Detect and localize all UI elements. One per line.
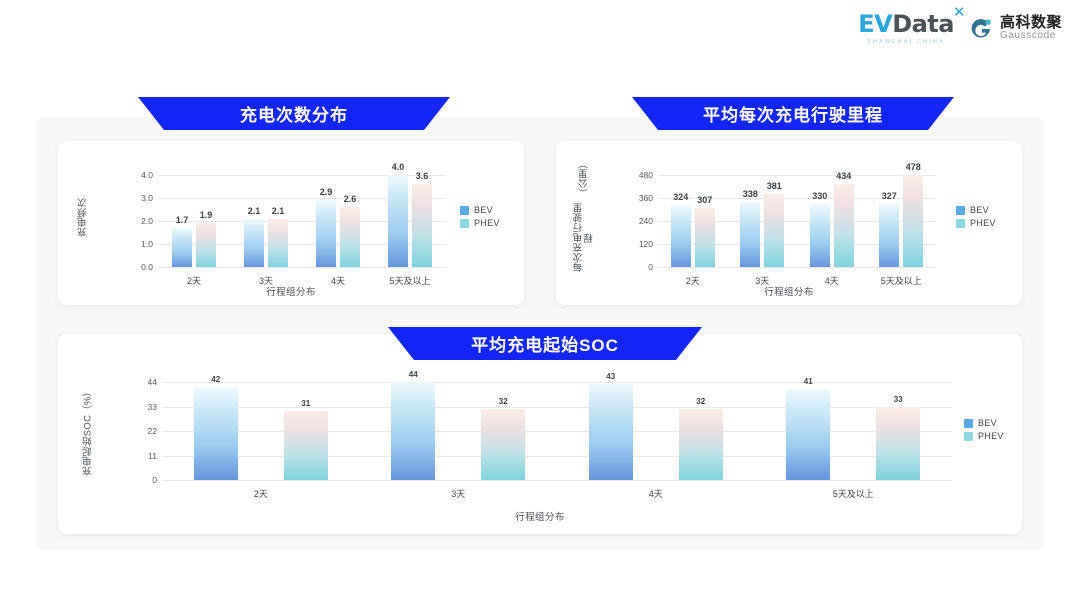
- bar-value-label: 2.6: [344, 194, 357, 204]
- legend-label-bev: BEV: [970, 205, 989, 215]
- chart-title-banner-3: 平均充电起始SOC: [388, 327, 702, 360]
- legend-item-phev[interactable]: PHEV: [460, 218, 500, 228]
- y-axis-tick: 44: [148, 377, 157, 387]
- gausscode-g-icon: [968, 16, 994, 42]
- y-axis-label-line1: 充电起始SOC: [84, 415, 95, 476]
- bar-value-label: 4.0: [392, 162, 405, 172]
- chart-legend: BEVPHEV: [956, 205, 996, 228]
- y-axis-label-line2: （公里）: [580, 159, 591, 198]
- evdata-data-text: Data: [892, 10, 954, 38]
- x-axis-label: 行程组分布: [58, 284, 524, 298]
- gausscode-en-name: Gausscode: [1000, 31, 1062, 42]
- bar-bev: 42: [194, 387, 238, 480]
- legend-swatch-bev: [460, 206, 469, 215]
- bar-phev: 32: [481, 409, 525, 480]
- gridline: [162, 431, 952, 432]
- y-axis-label-line1: 每次充电行驶里程: [574, 198, 595, 277]
- bar-value-label: 327: [882, 191, 897, 201]
- bar-value-label: 43: [606, 372, 615, 381]
- x-axis-tick: 2天: [254, 487, 268, 500]
- y-axis-tick: 480: [639, 170, 653, 180]
- bar-phev: 381: [764, 194, 784, 267]
- bar-value-label: 478: [906, 162, 921, 172]
- legend-item-bev[interactable]: BEV: [956, 205, 996, 215]
- legend-label-phev: PHEV: [474, 218, 500, 228]
- page-header: EVData ✕ SHANGHAI CHINA 高科数聚 Gausscode: [0, 0, 1080, 62]
- bar-value-label: 338: [743, 189, 758, 199]
- legend-label-phev: PHEV: [970, 218, 996, 228]
- y-axis-label: 每次充电行驶里程（公里）: [570, 159, 600, 277]
- gridline: [158, 267, 446, 268]
- x-axis-label: 行程组分布: [58, 509, 1022, 523]
- bar-bev: 324: [671, 205, 691, 267]
- bar-phev: 3.6: [412, 184, 432, 267]
- bar-bev: 2.9: [316, 200, 336, 267]
- bar-value-label: 42: [211, 375, 220, 384]
- bar-phev: 478: [903, 175, 923, 267]
- legend-label-bev: BEV: [978, 418, 997, 428]
- gridline: [162, 382, 952, 383]
- y-axis-label: 充电起始SOC（%）: [74, 370, 104, 492]
- legend-label-bev: BEV: [474, 205, 493, 215]
- bar-value-label: 2.9: [320, 187, 333, 197]
- bar-value-label: 44: [409, 370, 418, 379]
- bar-value-label: 2.1: [248, 206, 261, 216]
- y-axis-tick: 120: [639, 239, 653, 249]
- x-axis-tick: 4天: [331, 274, 345, 287]
- bar-value-label: 2.1: [272, 206, 285, 216]
- bar-bev: 4.0: [388, 175, 408, 267]
- x-axis-tick: 4天: [649, 487, 663, 500]
- legend-swatch-phev: [956, 219, 965, 228]
- y-axis-tick: 4.0: [141, 170, 153, 180]
- bar-phev: 1.9: [196, 223, 216, 267]
- y-axis-tick: 11: [148, 451, 157, 461]
- legend-item-phev[interactable]: PHEV: [956, 218, 996, 228]
- gausscode-text: 高科数聚 Gausscode: [1000, 15, 1062, 41]
- x-axis-tick: 3天: [259, 274, 273, 287]
- gridline: [658, 175, 936, 176]
- bar-phev: 32: [679, 409, 723, 480]
- bar-value-label: 33: [894, 395, 903, 404]
- legend-label-phev: PHEV: [978, 431, 1004, 441]
- legend-item-bev[interactable]: BEV: [964, 418, 1004, 428]
- y-axis-tick: 2.0: [141, 216, 153, 226]
- y-axis-tick: 0.0: [141, 262, 153, 272]
- bar-bev: 330: [810, 204, 830, 267]
- evdata-subtitle: SHANGHAI CHINA: [867, 39, 945, 45]
- chart-card-mileage-per-charge: 每次充电行驶里程（公里）行程组分布01202403604803243072天33…: [556, 141, 1022, 305]
- x-axis-tick: 3天: [451, 487, 465, 500]
- bar-value-label: 41: [804, 377, 813, 386]
- x-axis-tick: 4天: [825, 274, 839, 287]
- gridline: [162, 480, 952, 481]
- y-axis-tick: 22: [148, 426, 157, 436]
- gridline: [658, 267, 936, 268]
- x-axis-tick: 5天及以上: [881, 274, 922, 287]
- bar-bev: 44: [391, 382, 435, 480]
- bar-value-label: 32: [499, 397, 508, 406]
- plot-area: 0.01.02.03.04.01.71.92天2.12.13天2.92.64天4…: [158, 167, 446, 267]
- bar-phev: 434: [834, 184, 854, 267]
- gridline: [162, 407, 952, 408]
- bar-value-label: 3.6: [416, 171, 429, 181]
- bar-bev: 338: [740, 202, 760, 267]
- chart-legend: BEVPHEV: [460, 205, 500, 228]
- y-axis-tick: 240: [639, 216, 653, 226]
- legend-item-bev[interactable]: BEV: [460, 205, 500, 215]
- chart-legend: BEVPHEV: [964, 418, 1004, 441]
- gridline: [162, 456, 952, 457]
- chart-title-banner-1: 充电次数分布: [138, 97, 450, 130]
- x-axis-tick: 2天: [686, 274, 700, 287]
- bar-value-label: 324: [673, 192, 688, 202]
- y-axis-label-line2: （%）: [84, 386, 95, 415]
- evdata-wordmark: EVData ✕: [858, 12, 954, 36]
- chart-card-charging-frequency: 充电频次行程组分布0.01.02.03.04.01.71.92天2.12.13天…: [58, 141, 524, 305]
- logo-group: EVData ✕ SHANGHAI CHINA 高科数聚 Gausscode: [858, 12, 1062, 45]
- bar-phev: 2.1: [268, 219, 288, 267]
- bar-value-label: 330: [812, 191, 827, 201]
- x-axis-tick: 3天: [755, 274, 769, 287]
- legend-swatch-phev: [460, 219, 469, 228]
- y-axis-tick: 0: [648, 262, 653, 272]
- bar-bev: 43: [589, 384, 633, 480]
- y-axis-tick: 33: [148, 402, 157, 412]
- y-axis-tick: 1.0: [141, 239, 153, 249]
- bar-bev: 327: [879, 204, 899, 267]
- x-axis-tick: 5天及以上: [389, 274, 430, 287]
- chart-title-banner-2: 平均每次充电行驶里程: [632, 97, 954, 130]
- legend-swatch-bev: [956, 206, 965, 215]
- bar-value-label: 1.7: [176, 215, 189, 225]
- x-axis-tick: 5天及以上: [833, 487, 874, 500]
- bar-value-label: 32: [696, 397, 705, 406]
- bar-phev: 31: [284, 411, 328, 480]
- gausscode-logo: 高科数聚 Gausscode: [968, 15, 1062, 41]
- y-axis-tick: 0: [152, 475, 157, 485]
- y-axis-tick: 360: [639, 193, 653, 203]
- y-axis-label: 充电频次: [76, 165, 92, 269]
- bar-value-label: 31: [301, 399, 310, 408]
- bar-bev: 41: [786, 389, 830, 480]
- bar-value-label: 381: [767, 181, 782, 191]
- bar-phev: 33: [876, 407, 920, 480]
- evdata-logo: EVData ✕ SHANGHAI CHINA: [858, 12, 954, 45]
- bar-bev: 2.1: [244, 219, 264, 267]
- legend-item-phev[interactable]: PHEV: [964, 431, 1004, 441]
- legend-swatch-bev: [964, 419, 973, 428]
- x-axis-tick: 2天: [187, 274, 201, 287]
- legend-swatch-phev: [964, 432, 973, 441]
- bar-bev: 1.7: [172, 228, 192, 267]
- bar-value-label: 307: [697, 195, 712, 205]
- bar-value-label: 434: [836, 171, 851, 181]
- plot-area: 01122334442312天44323天43324天41335天及以上: [162, 380, 952, 480]
- y-axis-tick: 3.0: [141, 193, 153, 203]
- plot-area: 01202403604803243072天3383813天3304344天327…: [658, 167, 936, 267]
- bar-phev: 2.6: [340, 207, 360, 267]
- evdata-ev-text: EV: [858, 10, 892, 38]
- gausscode-cn-name: 高科数聚: [1000, 15, 1062, 31]
- chart-card-start-soc: 充电起始SOC（%）行程组分布01122334442312天44323天4332…: [58, 334, 1022, 534]
- x-axis-label: 行程组分布: [556, 284, 1022, 298]
- bar-value-label: 1.9: [200, 210, 213, 220]
- evdata-x-icon: ✕: [953, 5, 965, 20]
- bar-phev: 307: [695, 208, 715, 267]
